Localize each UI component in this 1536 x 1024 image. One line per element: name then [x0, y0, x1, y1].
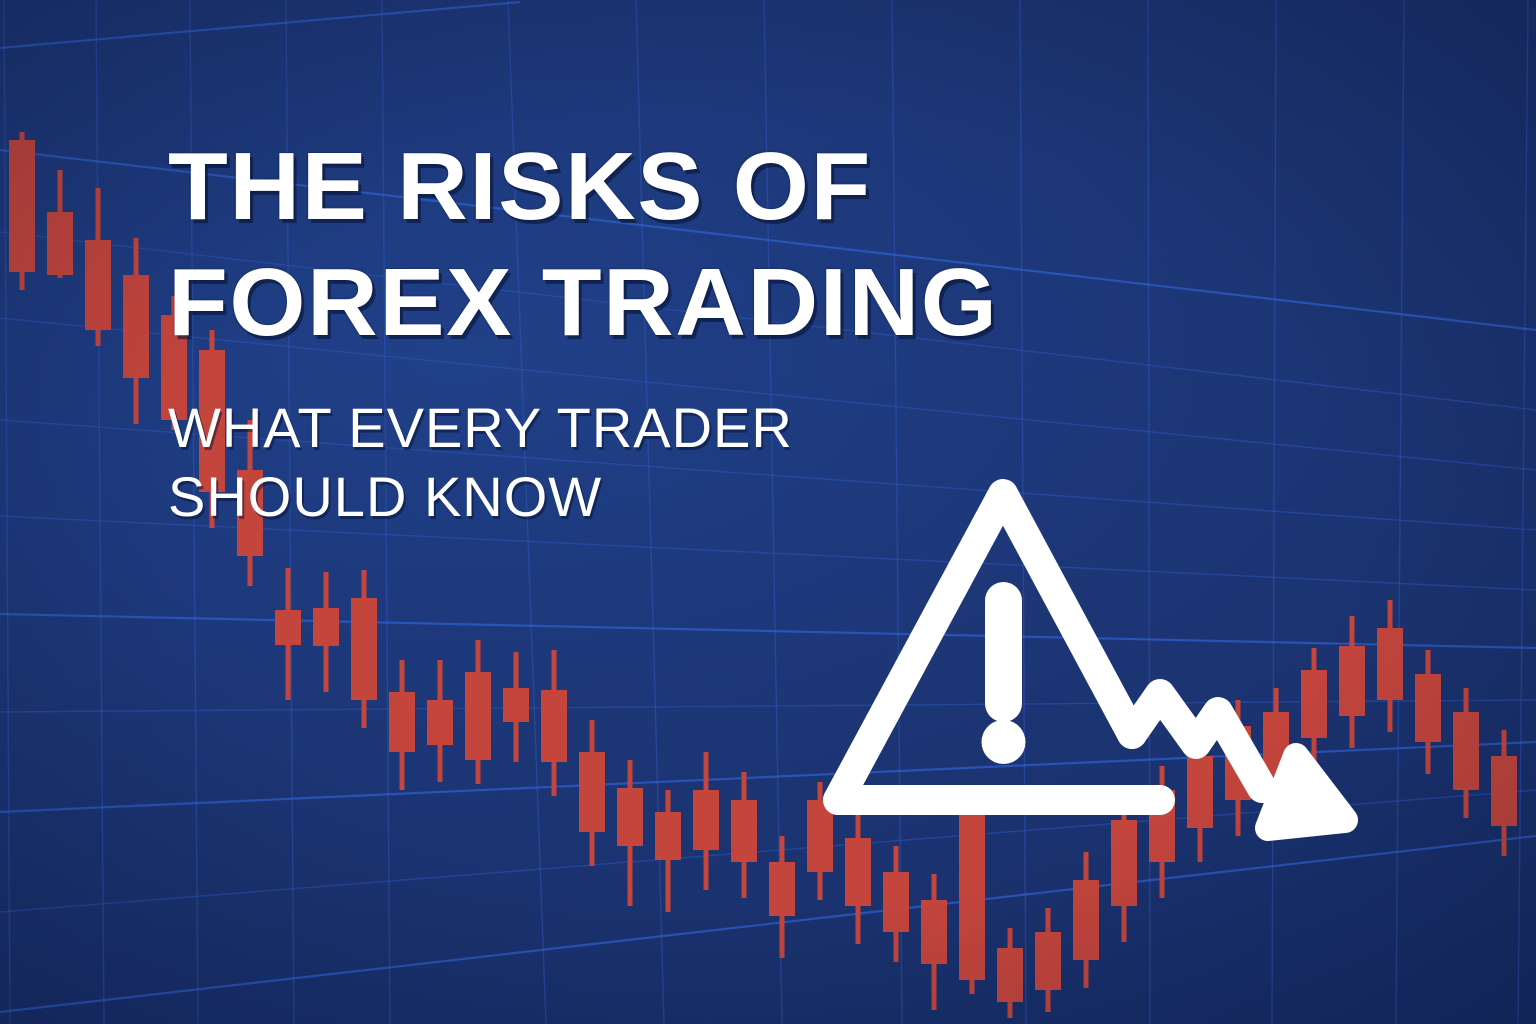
- headline-block: THE RISKS OF FOREX TRADING WHAT EVERY TR…: [168, 140, 1168, 527]
- subheadline-line-1: WHAT EVERY TRADER: [168, 398, 1168, 458]
- subheadline-block: WHAT EVERY TRADER SHOULD KNOW: [168, 398, 1168, 527]
- exclamation-dot-icon: [982, 720, 1026, 764]
- downtrend-arrow-icon: [1132, 694, 1262, 788]
- exclamation-mark-icon: [985, 582, 1022, 722]
- banner-canvas: .gl { stroke: #2b56b8; stroke-width: 1.4…: [0, 0, 1536, 1024]
- headline-line-1: THE RISKS OF: [168, 140, 1188, 234]
- headline-line-2: FOREX TRADING: [168, 256, 1188, 350]
- subheadline-line-2: SHOULD KNOW: [168, 467, 1168, 527]
- arrowhead-icon: [1268, 756, 1345, 828]
